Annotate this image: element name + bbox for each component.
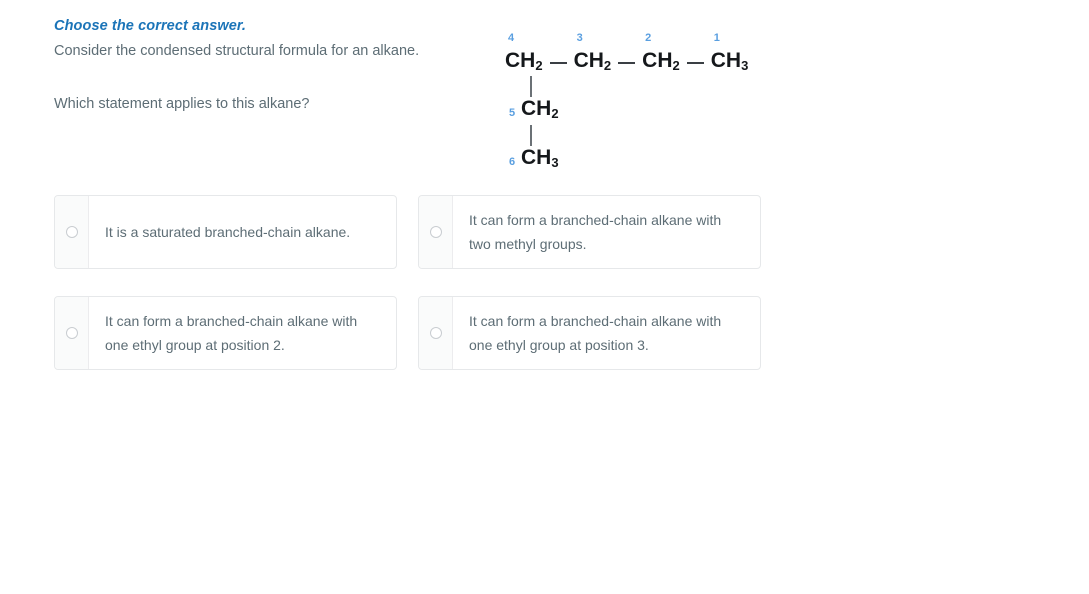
carbon-group-6: 6CH3 <box>521 147 559 169</box>
formula-2: CH <box>642 49 672 72</box>
answer-options: It is a saturated branched-chain alkane.… <box>54 195 761 397</box>
subscript-5: 2 <box>551 106 558 121</box>
radio-button-c[interactable] <box>66 327 78 339</box>
locant-1: 1 <box>714 33 720 44</box>
radio-gutter-d[interactable] <box>419 297 453 369</box>
carbon-group-1: 1CH3 <box>711 50 749 72</box>
bond-4-5-icon <box>530 76 532 97</box>
radio-button-a[interactable] <box>66 226 78 238</box>
subscript-1: 3 <box>741 58 748 73</box>
locant-6: 6 <box>509 157 515 168</box>
subscript-4: 2 <box>535 58 542 73</box>
subscript-6: 3 <box>551 155 558 170</box>
radio-button-d[interactable] <box>430 327 442 339</box>
locant-3: 3 <box>577 33 583 44</box>
radio-gutter-a[interactable] <box>55 196 89 268</box>
formula-1: CH <box>711 49 741 72</box>
formula-3: CH <box>574 49 604 72</box>
option-row-2: It can form a branched-chain alkane with… <box>54 296 761 370</box>
main-chain: 4CH2 3CH2 2CH2 1CH3 <box>505 38 748 72</box>
answer-option-d[interactable]: It can form a branched-chain alkane with… <box>418 296 761 370</box>
carbon-group-3: 3CH2 <box>574 50 612 72</box>
locant-2: 2 <box>645 33 651 44</box>
formula-5: CH <box>521 97 551 120</box>
answer-option-c-label: It can form a branched-chain alkane with… <box>89 297 396 369</box>
subscript-2: 2 <box>673 58 680 73</box>
bond-3-2-icon <box>618 62 635 64</box>
carbon-group-4: 4CH2 <box>505 50 543 72</box>
question-page: Choose the correct answer. Consider the … <box>0 0 1089 594</box>
answer-option-b[interactable]: It can form a branched-chain alkane with… <box>418 195 761 269</box>
bond-5-6-icon <box>530 125 532 146</box>
subscript-3: 2 <box>604 58 611 73</box>
option-row-1: It is a saturated branched-chain alkane.… <box>54 195 761 269</box>
locant-5: 5 <box>509 108 515 119</box>
radio-gutter-b[interactable] <box>419 196 453 268</box>
prompt-block: Choose the correct answer. Consider the … <box>54 18 474 62</box>
prompt-heading: Choose the correct answer. <box>54 18 474 35</box>
carbon-group-5: 5CH2 <box>521 98 559 120</box>
formula-6: CH <box>521 146 551 169</box>
answer-option-a-label: It is a saturated branched-chain alkane. <box>89 196 396 268</box>
carbon-group-2: 2CH2 <box>642 50 680 72</box>
formula-4: CH <box>505 49 535 72</box>
radio-gutter-c[interactable] <box>55 297 89 369</box>
bond-4-3-icon <box>550 62 567 64</box>
prompt-question: Which statement applies to this alkane? <box>54 95 310 115</box>
answer-option-c[interactable]: It can form a branched-chain alkane with… <box>54 296 397 370</box>
locant-4: 4 <box>508 33 514 44</box>
condensed-structural-formula: 4CH2 3CH2 2CH2 1CH3 5CH2 6CH3 <box>505 28 775 168</box>
bond-2-1-icon <box>687 62 704 64</box>
radio-button-b[interactable] <box>430 226 442 238</box>
answer-option-b-label: It can form a branched-chain alkane with… <box>453 196 760 268</box>
answer-option-a[interactable]: It is a saturated branched-chain alkane. <box>54 195 397 269</box>
answer-option-d-label: It can form a branched-chain alkane with… <box>453 297 760 369</box>
prompt-context: Consider the condensed structural formul… <box>54 42 474 62</box>
